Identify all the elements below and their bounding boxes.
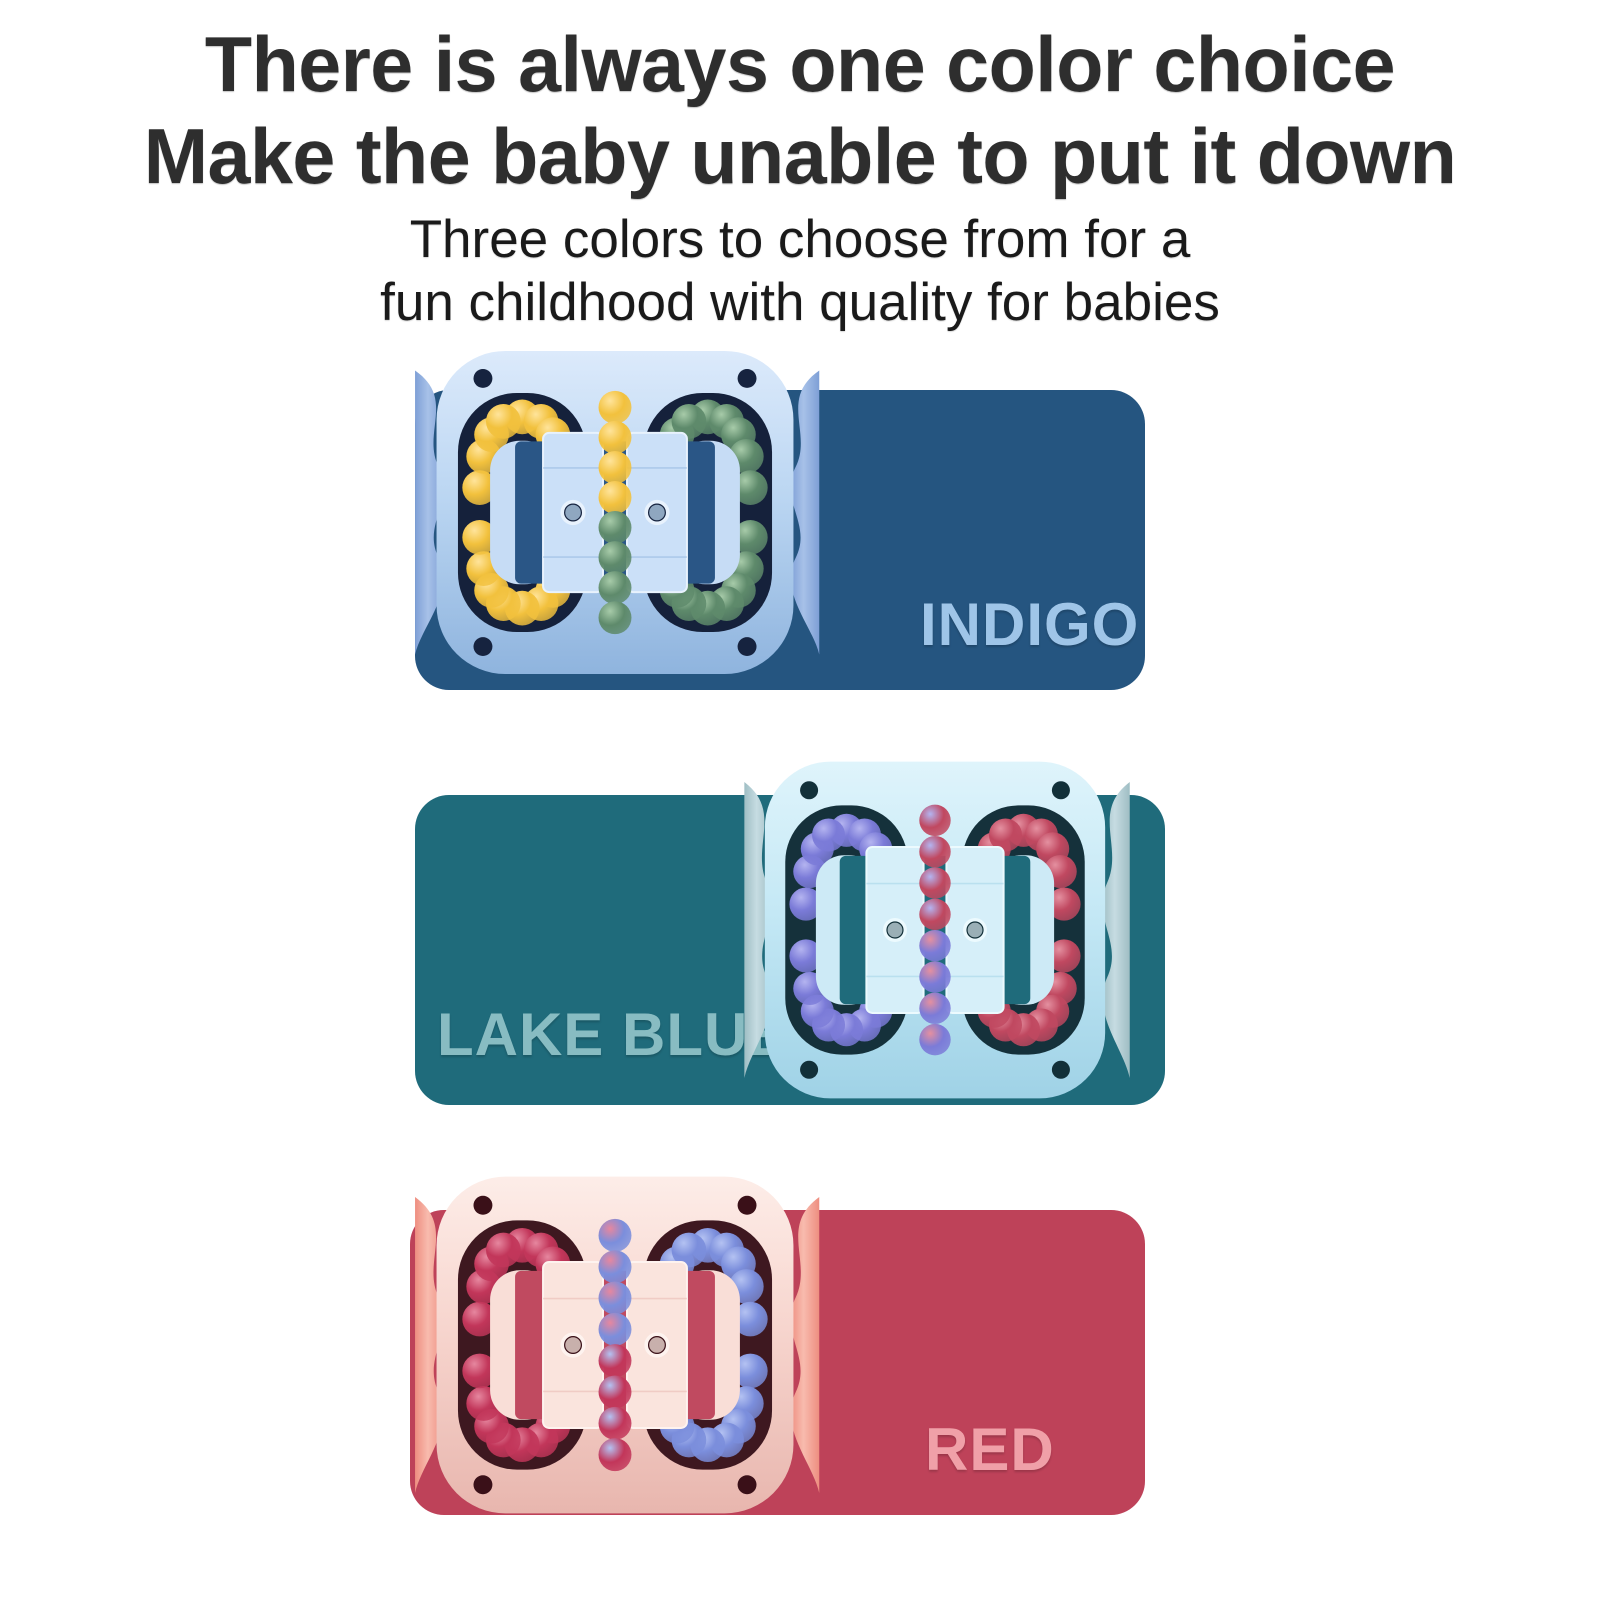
center-screw-left [887,922,903,938]
bead-left-18 [486,1233,521,1268]
corner-screw-2 [738,369,757,388]
center-bead-6 [599,541,632,574]
center-screw-right [649,504,666,521]
side-grip-right [791,1197,820,1493]
center-bead-4 [599,1313,632,1346]
center-bead-7 [919,993,950,1024]
center-bead-2 [919,836,950,867]
corner-screw-3 [800,1061,818,1079]
corner-screw-1 [800,781,818,799]
center-screw-right [967,922,983,938]
corner-screw-1 [473,369,492,388]
product-image-indigo[interactable] [400,335,830,690]
center-bead-6 [919,961,950,992]
product-image-lake-blue[interactable] [730,745,1140,1115]
center-bead-4 [919,899,950,930]
center-bead-1 [599,1219,632,1252]
corner-screw-3 [473,637,492,656]
side-grip-right [791,371,820,655]
center-bead-7 [599,571,632,604]
subheadline-line-1: Three colors to choose from for a [0,208,1600,271]
corner-screw-4 [738,637,757,656]
toy-graphic [744,762,1129,1099]
center-bead-5 [919,930,950,961]
center-bead-3 [599,451,632,484]
corner-screw-1 [473,1196,492,1215]
bead-left-18 [812,818,845,851]
center-bead-5 [599,1344,632,1377]
product-image-red[interactable] [400,1160,830,1530]
corner-screw-3 [473,1475,492,1494]
bead-left-18 [486,404,521,439]
headline-line-1: There is always one color choice [8,18,1592,110]
center-bead-8 [599,1438,632,1471]
center-bead-3 [919,867,950,898]
headline: There is always one color choice Make th… [0,18,1600,202]
center-bead-5 [599,511,632,544]
center-bead-3 [599,1282,632,1315]
side-grip-right [1102,782,1129,1078]
center-bead-2 [599,421,632,454]
corner-screw-4 [1052,1061,1070,1079]
corner-screw-2 [738,1196,757,1215]
subheadline: Three colors to choose from for a fun ch… [0,208,1600,334]
center-bead-1 [919,805,950,836]
center-bead-4 [599,481,632,514]
center-bead-6 [599,1376,632,1409]
corner-screw-2 [1052,781,1070,799]
headline-line-2: Make the baby unable to put it down [8,110,1592,202]
center-screw-left [565,504,582,521]
center-bead-8 [599,601,632,634]
center-bead-7 [599,1407,632,1440]
center-screw-right [649,1337,666,1354]
center-bead-1 [599,391,632,424]
center-screw-left [565,1337,582,1354]
toy-graphic [415,1177,819,1514]
subheadline-line-2: fun childhood with quality for babies [0,271,1600,334]
toy-graphic [415,351,819,674]
product-color-options-page: There is always one color choice Make th… [0,0,1600,1600]
corner-screw-4 [738,1475,757,1494]
center-bead-2 [599,1250,632,1283]
center-bead-8 [919,1024,950,1055]
